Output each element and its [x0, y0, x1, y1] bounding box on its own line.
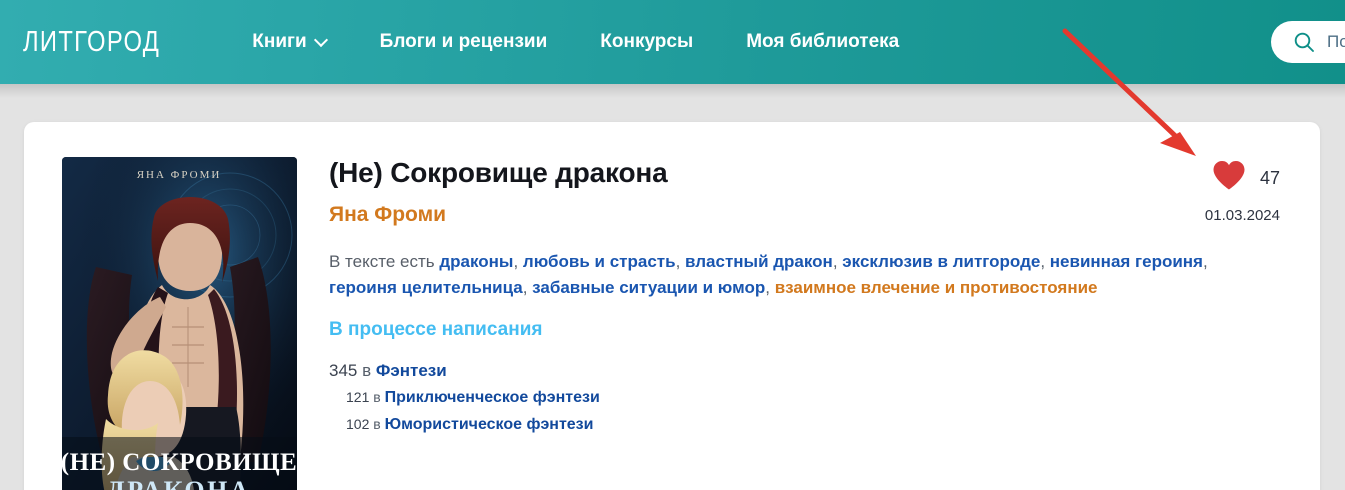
nav-item-books[interactable]: Книги: [252, 31, 326, 53]
main-navigation: Книги Блоги и рецензии Конкурсы Моя библ…: [252, 31, 899, 53]
site-logo[interactable]: ЛИТГОРОД: [23, 26, 160, 59]
rank-preposition: в: [369, 389, 384, 405]
tags-list: драконы, любовь и страсть, властный драк…: [329, 252, 1208, 297]
rank-genre-link[interactable]: Фэнтези: [376, 361, 447, 380]
cover-title-line-1: (НЕ) СОКРОВИЩЕ: [62, 449, 297, 476]
search-input[interactable]: По: [1327, 32, 1345, 52]
tag-link[interactable]: эксклюзив в литгороде: [842, 252, 1040, 271]
tag-link[interactable]: героиня целительница: [329, 278, 523, 297]
cover-title-line-2: ДРАКОНА: [107, 476, 251, 490]
book-tags: В тексте есть драконы, любовь и страсть,…: [329, 249, 1249, 301]
book-cover-image[interactable]: (НЕ) СОКРОВИЩЕ ДРАКОНА ЯНА ФРОМИ: [62, 157, 297, 490]
nav-item-label: Конкурсы: [600, 31, 693, 53]
nav-item-label: Моя библиотека: [746, 31, 899, 53]
genre-rank-row: 102 в Юмористическое фэнтези: [346, 411, 1249, 438]
book-card: (НЕ) СОКРОВИЩЕ ДРАКОНА ЯНА ФРОМИ (Не) Со…: [24, 122, 1320, 490]
rank-preposition: в: [369, 416, 384, 432]
tag-separator: ,: [513, 252, 518, 271]
publication-date: 01.03.2024: [1100, 207, 1280, 224]
tag-separator: ,: [523, 278, 528, 297]
like-count: 47: [1260, 168, 1280, 189]
nav-item-blogs[interactable]: Блоги и рецензии: [380, 31, 548, 53]
rank-genre-link[interactable]: Приключенческое фэнтези: [385, 389, 600, 406]
tag-link[interactable]: взаимное влечение и противостояние: [775, 278, 1098, 297]
search-icon: [1293, 31, 1315, 53]
page-root: ЛИТГОРОД Книги Блоги и рецензии Конкурсы…: [0, 0, 1345, 490]
rank-genre-link[interactable]: Юмористическое фэнтези: [385, 416, 594, 433]
book-status[interactable]: В процессе написания: [329, 319, 1249, 341]
genre-rank-row: 345 в Фэнтези: [329, 358, 1249, 384]
tag-link[interactable]: властный дракон: [685, 252, 833, 271]
tag-separator: ,: [676, 252, 681, 271]
site-header: ЛИТГОРОД Книги Блоги и рецензии Конкурсы…: [0, 0, 1345, 84]
tag-separator: ,: [765, 278, 770, 297]
heart-icon[interactable]: [1212, 160, 1246, 196]
nav-item-my-library[interactable]: Моя библиотека: [746, 31, 899, 53]
tag-separator: ,: [1203, 252, 1208, 271]
nav-item-contests[interactable]: Конкурсы: [600, 31, 693, 53]
tag-link[interactable]: любовь и страсть: [523, 252, 676, 271]
tag-separator: ,: [833, 252, 838, 271]
header-shadow: [0, 84, 1345, 98]
genre-rank-row: 121 в Приключенческое фэнтези: [346, 384, 1249, 411]
tag-link[interactable]: невинная героиня: [1050, 252, 1203, 271]
likes-row: 47: [1100, 160, 1280, 196]
rank-preposition: в: [357, 361, 375, 380]
nav-item-label: Блоги и рецензии: [380, 31, 548, 53]
tag-link[interactable]: драконы: [439, 252, 513, 271]
search-box[interactable]: По: [1271, 21, 1345, 63]
tags-lead-text: В тексте есть: [329, 252, 435, 271]
genre-rank-list: 345 в Фэнтези121 в Приключенческое фэнте…: [329, 358, 1249, 438]
rank-number: 345: [329, 361, 357, 380]
rank-number: 121: [346, 389, 369, 405]
likes-block: 47 01.03.2024: [1100, 160, 1280, 224]
chevron-down-icon: [316, 35, 327, 46]
nav-item-label: Книги: [252, 31, 306, 53]
rank-number: 102: [346, 416, 369, 432]
tag-link[interactable]: забавные ситуации и юмор: [532, 278, 765, 297]
cover-author-line: ЯНА ФРОМИ: [137, 169, 222, 181]
tag-separator: ,: [1040, 252, 1045, 271]
